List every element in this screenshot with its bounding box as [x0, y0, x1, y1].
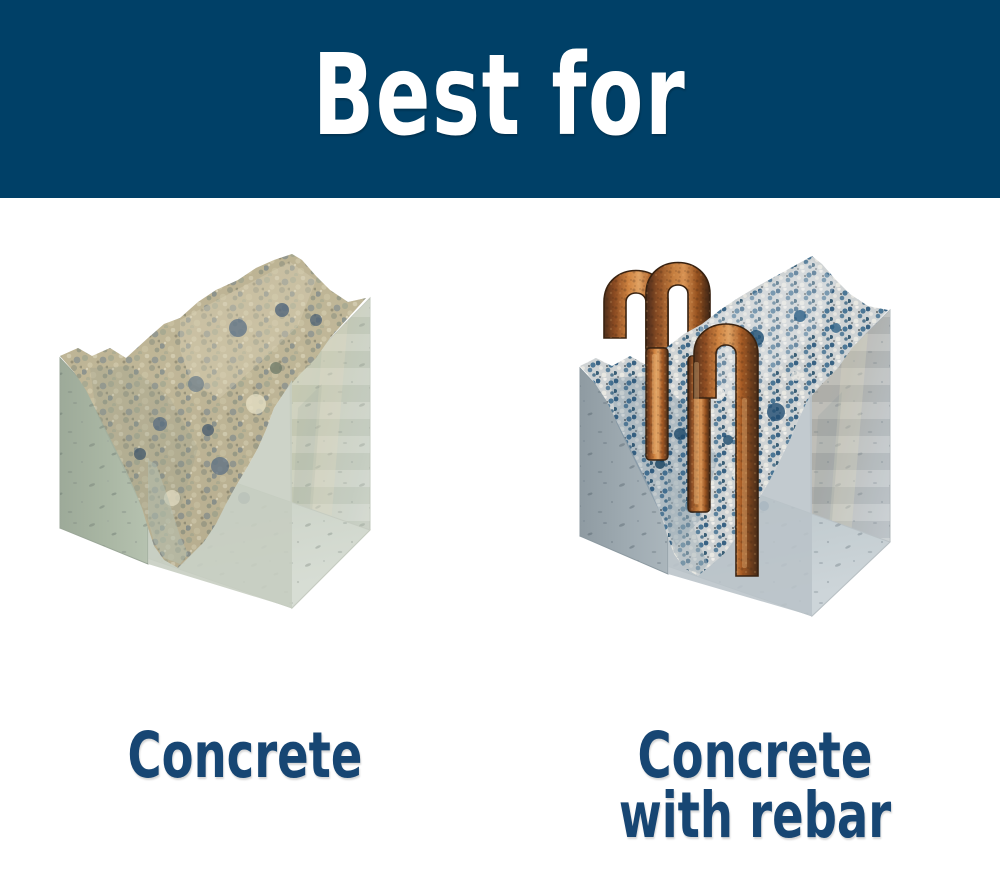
- caption-concrete-line1: Concrete: [48, 726, 442, 786]
- caption-concrete-with-rebar: Concrete with rebar: [515, 726, 995, 847]
- header-band: Best for: [0, 0, 1000, 198]
- concrete-rebar-block-figure: [560, 198, 980, 718]
- page-title: Best for: [313, 40, 687, 152]
- caption-concrete: Concrete: [5, 726, 485, 786]
- caption-rebar-line2: with rebar: [558, 786, 952, 846]
- illustration-row: [0, 198, 1000, 738]
- concrete-block-cutaway-illustration: [30, 198, 450, 718]
- concrete-block-figure: [30, 198, 450, 718]
- caption-rebar-line1: Concrete: [558, 726, 952, 786]
- concrete-with-rebar-cutaway-illustration: [560, 198, 980, 718]
- caption-row: Concrete Concrete with rebar: [0, 726, 1000, 870]
